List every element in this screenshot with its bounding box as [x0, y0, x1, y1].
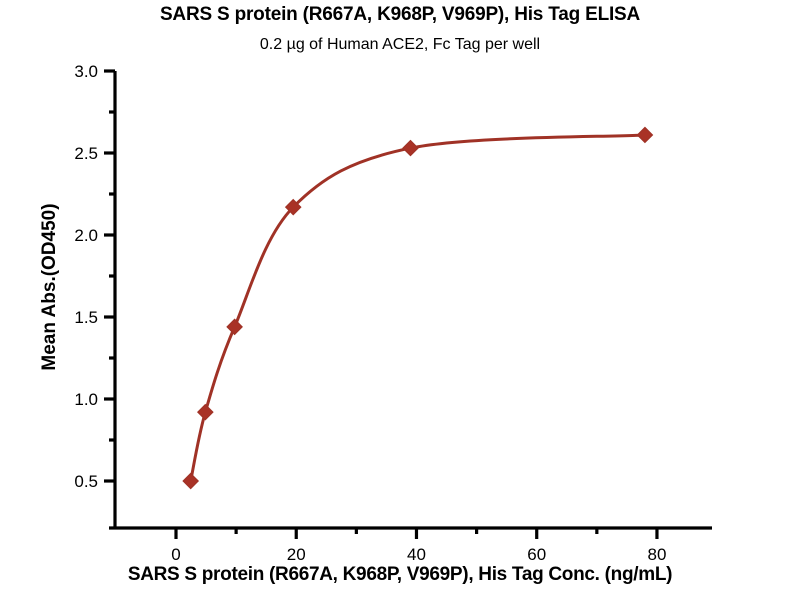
series-line — [191, 135, 645, 481]
axis-ticks — [104, 71, 657, 539]
data-point-marker — [183, 474, 198, 489]
chart-figure: SARS S protein (R667A, K968P, V969P), Hi… — [0, 0, 800, 600]
y-tick-label: 0.5 — [74, 472, 98, 491]
plot-area: 0.51.01.52.02.53.0020406080 — [0, 0, 800, 600]
y-tick-label: 2.5 — [74, 144, 98, 163]
x-axis-label: SARS S protein (R667A, K968P, V969P), Hi… — [0, 564, 800, 586]
data-point-marker — [198, 405, 213, 420]
data-curve — [191, 135, 645, 481]
x-tick-label: 0 — [171, 545, 180, 564]
y-tick-label: 2.0 — [74, 226, 98, 245]
data-point-marker — [637, 127, 652, 142]
data-point-marker — [403, 141, 418, 156]
y-tick-label: 1.5 — [74, 308, 98, 327]
data-point-marker — [227, 319, 242, 334]
axes — [109, 71, 712, 528]
data-markers — [183, 127, 652, 488]
x-tick-label: 60 — [527, 545, 546, 564]
y-tick-label: 1.0 — [74, 390, 98, 409]
y-tick-label: 3.0 — [74, 62, 98, 81]
x-tick-label: 80 — [647, 545, 666, 564]
x-tick-label: 20 — [287, 545, 306, 564]
x-tick-label: 40 — [407, 545, 426, 564]
